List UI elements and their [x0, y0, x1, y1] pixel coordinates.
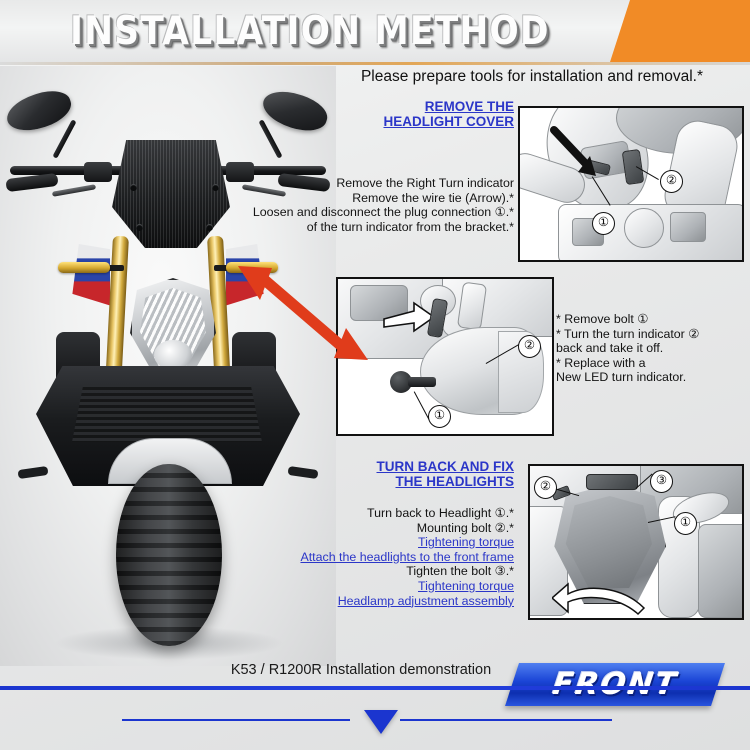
instruction-block-remove-indicator: * Remove bolt ① * Turn the turn indicato…: [556, 312, 746, 385]
instruction-link[interactable]: Tightening torque: [256, 535, 514, 550]
page-header: INSTALLATION METHOD: [0, 0, 750, 62]
instruction-line: Turn back to Headlight ①.*: [256, 506, 514, 521]
lead-note: Please prepare tools for installation an…: [318, 68, 746, 86]
page-title: INSTALLATION METHOD: [37, 0, 583, 62]
screen-bolt: [212, 184, 219, 191]
indicator-stem-left: [108, 265, 124, 271]
red-double-arrow: [238, 258, 368, 368]
callout-3: ③: [650, 470, 673, 493]
screen-bolt: [136, 224, 143, 231]
instruction-line: back and take it off.: [556, 341, 746, 356]
mirror-right: [258, 85, 331, 138]
divider-line-right: [400, 719, 612, 721]
header-divider: [0, 62, 750, 65]
radiator: [72, 384, 262, 442]
headlight-top-bracket: [586, 474, 638, 490]
ill-shape: [698, 524, 744, 618]
instruction-line: * Turn the turn indicator ②: [556, 327, 746, 342]
instruction-line: Tighten the bolt ③.*: [256, 564, 514, 579]
instruction-line: New LED turn indicator.: [556, 370, 746, 385]
carbon-fly-screen: [112, 140, 230, 248]
mirror-stem-left: [52, 119, 76, 158]
lever-left: [52, 184, 96, 197]
callout-2: ②: [518, 335, 541, 358]
instruction-line: Loosen and disconnect the plug connectio…: [244, 205, 514, 220]
instruction-line: Remove the wire tie (Arrow).*: [244, 191, 514, 206]
footpeg-left: [18, 466, 49, 479]
header-orange-accent: [610, 0, 750, 62]
headlight-assembly: [130, 278, 216, 378]
instruction-line: Remove the Right Turn indicator: [244, 176, 514, 191]
turn-indicator-left: [58, 262, 110, 273]
callout-1: ①: [428, 405, 451, 428]
white-rotation-arrow-icon: [552, 578, 648, 616]
heading-line-2: THE HEADLIGHTS: [330, 474, 514, 489]
section-heading-turn-back-and-fix[interactable]: TURN BACK AND FIX THE HEADLIGHTS: [330, 459, 514, 489]
bolt-shaft: [408, 377, 436, 387]
footer-caption: K53 / R1200R Installation demonstration: [196, 662, 526, 678]
panel-headlight-cover-illustration: ① ②: [518, 106, 744, 262]
instruction-block-turn-back: Turn back to Headlight ①.* Mounting bolt…: [256, 506, 514, 608]
installation-method-page: INSTALLATION METHOD: [0, 0, 750, 750]
grip-left: [5, 173, 58, 192]
tank-panel-left: [70, 244, 110, 308]
callout-2: ②: [534, 476, 557, 499]
footpeg-right: [288, 466, 319, 479]
callout-2: ②: [660, 170, 683, 193]
heading-line-1: REMOVE THE: [340, 99, 514, 114]
instruction-block-remove-cover: Remove the Right Turn indicator Remove t…: [244, 176, 514, 234]
instruction-line: of the turn indicator from the bracket.*: [244, 220, 514, 235]
footer-rule: [0, 686, 750, 690]
instruction-link[interactable]: Attach the headlights to the front frame: [256, 550, 514, 565]
instruction-line: * Replace with a: [556, 356, 746, 371]
heading-line-2: HEADLIGHT COVER: [340, 114, 514, 129]
mirror-left: [2, 85, 75, 138]
section-heading-remove-headlight-cover[interactable]: REMOVE THE HEADLIGHT COVER: [340, 99, 514, 129]
black-arrow-down-right-icon: [548, 126, 612, 184]
callout-1: ①: [674, 512, 697, 535]
front-tyre: [116, 464, 222, 646]
down-triangle-icon: [364, 710, 398, 734]
divider-line-left: [122, 719, 350, 721]
screen-bolt: [206, 224, 213, 231]
callout-1: ①: [592, 212, 615, 235]
instruction-line: Mounting bolt ②.*: [256, 521, 514, 536]
instruction-link[interactable]: Tightening torque: [256, 579, 514, 594]
screen-bolt: [130, 184, 137, 191]
ill-shape: [670, 212, 706, 242]
panel-turn-indicator-illustration: ① ②: [336, 277, 554, 436]
mirror-stem-right: [258, 119, 282, 158]
headlight-low-beam: [154, 340, 192, 370]
instruction-line: * Remove bolt ①: [556, 312, 746, 327]
heading-line-1: TURN BACK AND FIX: [330, 459, 514, 474]
instruction-link[interactable]: Headlamp adjustment assembly: [256, 594, 514, 609]
ill-shape: [624, 208, 664, 248]
panel-headlight-refit-illustration: ② ③ ①: [528, 464, 744, 620]
switchgear-left: [84, 162, 112, 182]
front-badge-label: FRONT: [505, 663, 725, 706]
